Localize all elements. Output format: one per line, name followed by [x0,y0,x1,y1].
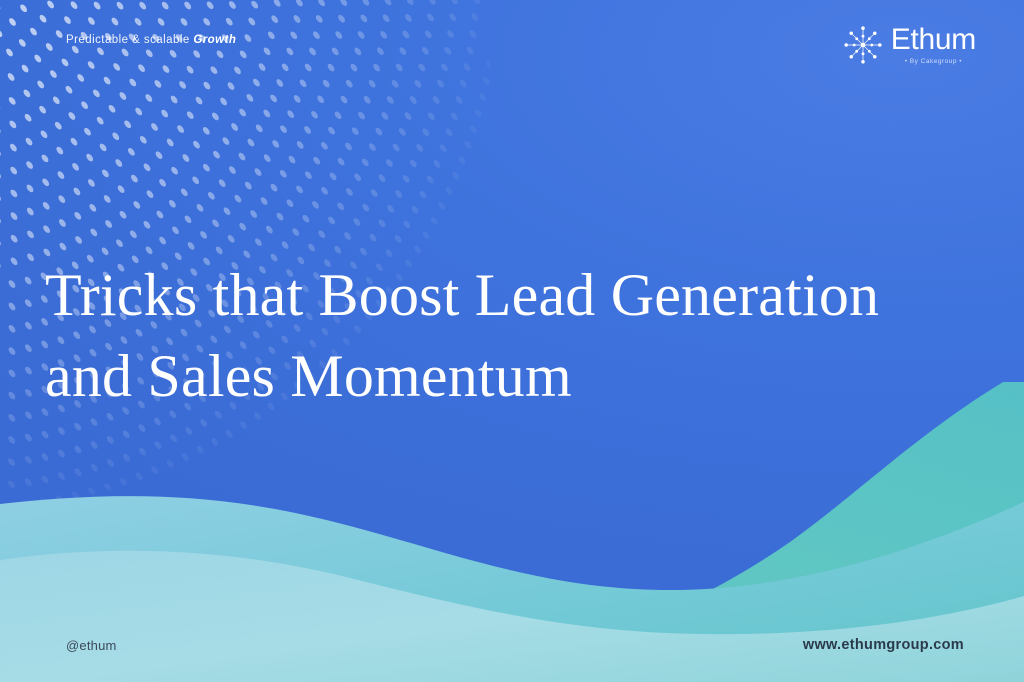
brand-logo[interactable]: Ethum • By Cakegroup • [842,24,976,66]
network-burst-icon [842,24,884,66]
social-media-banner: Predictable & scalable Growth [0,0,1024,682]
social-handle: @ethum [66,638,117,653]
tagline: Predictable & scalable Growth [66,34,236,46]
headline-line-2: and Sales Momentum [45,336,1000,417]
page-title: Tricks that Boost Lead Generation and Sa… [45,255,1000,417]
website-url: www.ethumgroup.com [803,637,964,653]
headline-line-1: Tricks that Boost Lead Generation [45,255,1000,336]
tagline-emphasis: Growth [193,34,236,46]
brand-logo-text: Ethum • By Cakegroup • [891,25,976,65]
brand-name: Ethum [891,25,976,55]
tagline-prefix: Predictable & scalable [66,34,190,46]
brand-subtitle: • By Cakegroup • [905,58,962,65]
